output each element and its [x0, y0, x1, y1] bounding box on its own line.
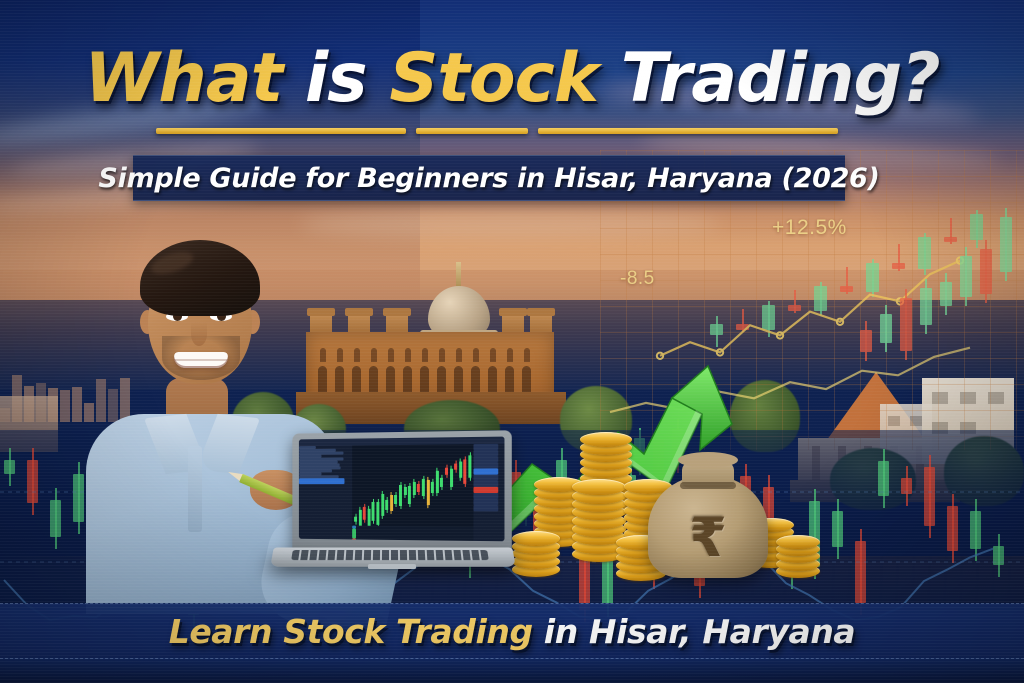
platform-watchlist-panel: [299, 446, 352, 540]
candlestick: [1000, 217, 1012, 271]
screen-candlestick: [399, 485, 402, 507]
skyline-building: [60, 390, 70, 422]
title-block: What is Stock Trading?: [0, 44, 1024, 113]
laptop-lid: [292, 430, 511, 553]
candlestick: [880, 314, 892, 342]
screen-candlestick: [417, 484, 420, 493]
screen-candlestick: [431, 482, 434, 493]
bottom-banner-rest: in Hisar, Haryana: [533, 612, 856, 651]
screen-candlestick: [454, 464, 457, 469]
watchlist-selected-row: [299, 478, 345, 484]
screen-candlestick: [440, 478, 443, 487]
bottom-glow: [0, 659, 1024, 683]
fort-window: [354, 348, 360, 362]
order-panel-row: [473, 505, 498, 511]
screen-candlestick: [408, 486, 411, 504]
screen-candlestick: [468, 455, 471, 478]
bottom-banner-text: Learn Stock Trading in Hisar, Haryana: [169, 612, 856, 651]
fort-arch: [386, 366, 395, 392]
screen-candlestick: [426, 480, 429, 505]
fort-arch: [471, 366, 480, 392]
candlestick: [900, 298, 912, 351]
money-bag-tie: [680, 482, 736, 489]
title-part-1: is: [305, 39, 389, 118]
fort-window: [371, 348, 377, 362]
platform-order-panel: [473, 444, 504, 542]
screen-candlestick: [381, 494, 384, 516]
candlestick: [860, 330, 872, 352]
fort-arch: [403, 366, 412, 392]
fort-window: [456, 348, 462, 362]
screen-candlestick: [385, 500, 388, 510]
poster-canvas: +12.5% -8.5: [0, 0, 1024, 683]
screen-candlestick: [450, 469, 453, 486]
screen-candlestick: [404, 487, 407, 495]
skyline-building: [72, 387, 82, 422]
laptop-trackpad: [368, 564, 416, 569]
screen-candlestick: [363, 507, 366, 520]
bottom-banner: Learn Stock Trading in Hisar, Haryana: [0, 603, 1024, 659]
candlestick: [960, 256, 972, 298]
screen-candlestick: [394, 495, 397, 505]
smiling-mouth: [174, 352, 228, 368]
title-part-2: Stock: [389, 39, 620, 118]
fort-window: [422, 348, 428, 362]
fort-window: [473, 348, 479, 362]
chart-gain-label: +12.5%: [772, 216, 847, 240]
fort-window: [439, 348, 445, 362]
rupee-money-bag: ₹: [648, 448, 768, 578]
screen-candlestick: [413, 482, 416, 495]
nose: [191, 322, 207, 346]
candlestick-series-right: [860, 160, 1024, 410]
volume-bar: [352, 538, 356, 541]
fort-arch: [369, 366, 378, 392]
rupee-symbol-icon: ₹: [648, 506, 768, 569]
title-underline: [156, 128, 866, 134]
gold-coin: [776, 535, 820, 549]
screen-candlestick: [390, 495, 393, 511]
fort-arch: [420, 366, 429, 392]
fort-arch: [352, 366, 361, 392]
money-bag-knot: [678, 452, 738, 468]
screen-candlestick: [436, 471, 439, 494]
screen-candlestick: [372, 502, 375, 521]
fort-arch: [437, 366, 446, 392]
laptop-screen-trading-platform[interactable]: [299, 437, 505, 542]
page-subtitle: Simple Guide for Beginners in Hisar, Har…: [98, 163, 879, 194]
screen-candlestick: [464, 459, 467, 484]
chart-loss-label: -8.5: [620, 268, 655, 290]
candlestick: [980, 249, 992, 294]
volume-bar: [352, 529, 356, 539]
fort-window: [388, 348, 394, 362]
shirt-placket: [188, 446, 202, 532]
screen-candlestick: [445, 468, 448, 476]
screen-candlestick: [354, 517, 357, 522]
gold-coin: [512, 531, 560, 546]
platform-volume-bar: [352, 526, 473, 541]
candlestick: [940, 282, 952, 306]
title-part-0: What: [84, 39, 304, 118]
laptop-keyboard: [291, 550, 489, 560]
screen-candlestick: [422, 479, 425, 495]
fort-window: [405, 348, 411, 362]
title-part-3: Trading?: [621, 39, 940, 118]
gold-coin: [580, 432, 632, 447]
bottom-banner-highlight: Learn Stock Trading: [169, 612, 533, 651]
fort-window: [337, 348, 343, 362]
page-title: What is Stock Trading?: [0, 44, 1024, 113]
subtitle-bar: Simple Guide for Beginners in Hisar, Har…: [133, 155, 845, 201]
laptop-device: [272, 432, 514, 592]
fort-arch: [335, 366, 344, 392]
hair: [140, 240, 260, 316]
screen-candlestick: [459, 461, 462, 477]
fort-arch: [454, 366, 463, 392]
screen-candlestick: [376, 502, 379, 525]
candlestick: [920, 288, 932, 325]
